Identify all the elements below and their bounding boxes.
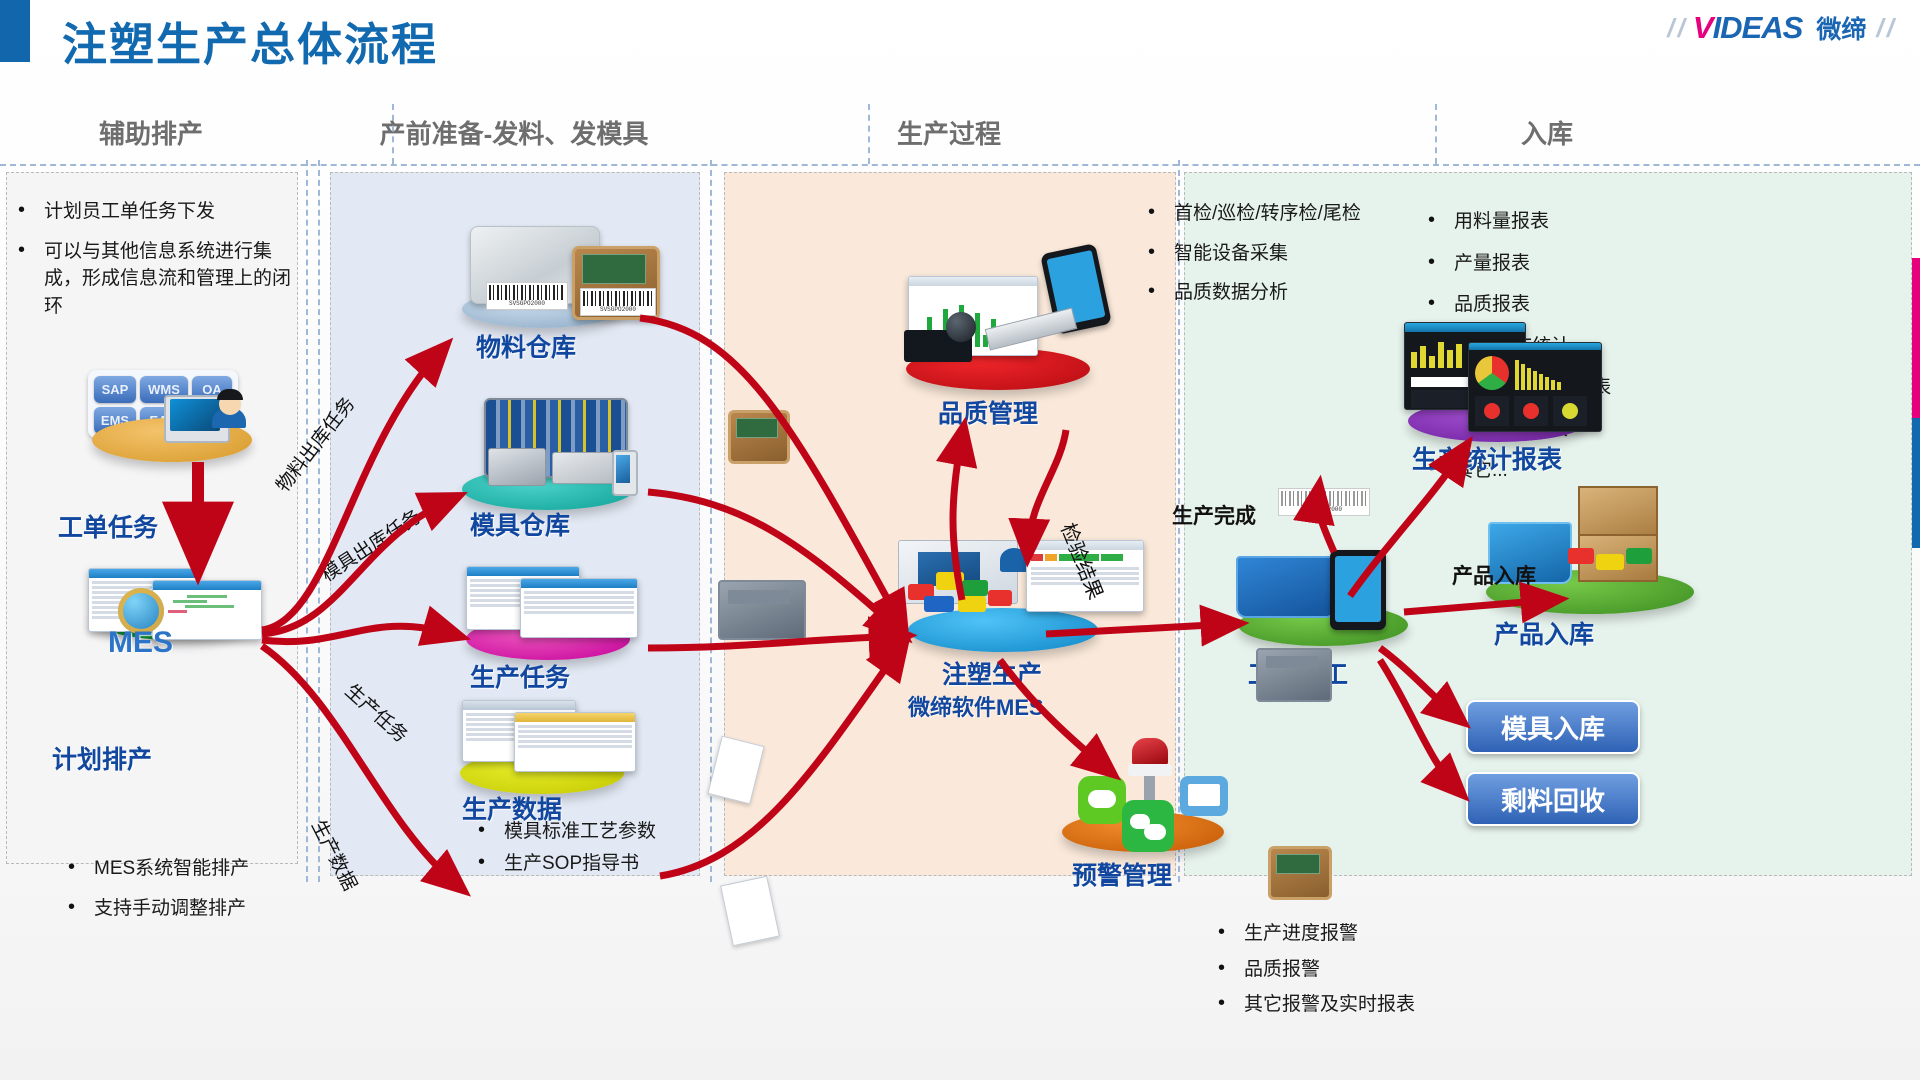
logo-slashes-right: / / <box>1876 13 1892 44</box>
right-edge-pink-block <box>1911 258 1920 418</box>
node-label-injection-production: 注塑生产 <box>942 655 1042 691</box>
node-label-plan-scheduling: 计划排产 <box>52 740 152 776</box>
node-label-mold-warehouse: 模具仓库 <box>470 506 570 542</box>
node-label-material-warehouse: 物料仓库 <box>476 328 576 364</box>
list-item: 智能设备采集 <box>1140 240 1460 268</box>
node-label-work-order-task: 工单任务 <box>58 508 158 544</box>
column-divider-top-1 <box>392 104 394 164</box>
dashboard-window-front <box>1468 342 1602 432</box>
column-header-1: 产前准备-发料、发模具 <box>330 108 698 156</box>
page-title: 注塑生产总体流程 <box>62 8 438 73</box>
logo-v-glyph: V <box>1693 10 1713 45</box>
list-item: 可以与其他信息系统进行集成，形成信息流和管理上的闭环 <box>10 238 300 321</box>
mes-badge-label: MES <box>108 626 173 660</box>
list-item: 产量报表 <box>1420 250 1840 278</box>
column-divider-1b <box>318 160 320 882</box>
work-order-barcode: SVSGPO2000 <box>1278 488 1370 516</box>
column-divider-top-2 <box>868 104 870 164</box>
list-item: MES系统智能排产 <box>60 855 310 883</box>
col3-quality-bullets: 首检/巡检/转序检/尾检 智能设备采集 品质数据分析 <box>1140 200 1460 319</box>
column-header-3: 入库 <box>1184 108 1910 156</box>
list-item: 生产进度报警 <box>1210 920 1530 948</box>
column-divider-top-3 <box>1435 104 1437 164</box>
column-header-2: 生产过程 <box>724 108 1174 156</box>
list-item: 品质数据分析 <box>1140 279 1460 307</box>
node-label-product-warehousing: 产品入库 <box>1494 615 1594 651</box>
logo-ideas-text: IDEAS <box>1713 10 1803 45</box>
list-item: 生产SOP指导书 <box>470 850 730 878</box>
node-label-alarm-management: 预警管理 <box>1072 856 1172 892</box>
node-label-statistics-report: 生产统计报表 <box>1412 440 1562 476</box>
list-item: 模具标准工艺参数 <box>470 818 730 846</box>
system-tile-sap: SAP <box>94 376 136 403</box>
column-header-0: 辅助排产 <box>6 108 296 156</box>
material-barcode-1: SVSGPO2000 <box>486 282 568 310</box>
title-accent-bar <box>0 0 30 62</box>
list-item: 首检/巡检/转序检/尾检 <box>1140 200 1460 228</box>
list-item: 品质报表 <box>1420 291 1840 319</box>
col1-top-bullets: 计划员工单任务下发 可以与其他信息系统进行集成，形成信息流和管理上的闭环 <box>10 198 300 332</box>
col1-bottom-bullets: MES系统智能排产 支持手动调整排产 <box>60 855 310 934</box>
list-item: 品质报警 <box>1210 956 1530 984</box>
header-separator-line <box>0 164 1920 166</box>
col2-production-data-bullets: 模具标准工艺参数 生产SOP指导书 <box>470 818 730 881</box>
task-window-right <box>520 578 638 638</box>
logo-wordmark: VIDEAS <box>1693 10 1802 46</box>
list-item: 支持手动调整排产 <box>60 895 310 923</box>
barcode-text: SVSGPO2000 <box>489 300 565 307</box>
data-window-right <box>514 712 636 772</box>
node-label-injection-production-sub: 微缔软件MES <box>908 690 1044 722</box>
node-label-quality-management: 品质管理 <box>938 394 1038 430</box>
brand-logo: / / VIDEAS 微缔 / / <box>1667 10 1892 46</box>
list-item: 用料量报表 <box>1420 208 1840 236</box>
col3-alarm-bullets: 生产进度报警 品质报警 其它报警及实时报表 <box>1210 920 1530 1027</box>
logo-chinese-name: 微缔 <box>1816 10 1866 46</box>
logo-slashes-left: / / <box>1667 13 1683 44</box>
flow-label-production-complete: 生产完成 <box>1172 500 1256 530</box>
pill-mold-warehousing[interactable]: 模具入库 <box>1466 700 1640 754</box>
column-divider-1 <box>306 160 308 882</box>
barcode-text: SVSGPO2000 <box>583 306 653 313</box>
pill-scrap-recycle[interactable]: 剩料回收 <box>1466 772 1640 826</box>
barcode-text: SVSGPO2000 <box>1281 506 1367 513</box>
slide-canvas: 注塑生产总体流程 / / VIDEAS 微缔 / / 辅助排产 产前准备-发料、… <box>0 0 1920 1080</box>
material-barcode-2: SVSGPO2000 <box>580 288 656 316</box>
flow-label-product-warehousing: 产品入库 <box>1452 560 1536 590</box>
node-label-production-task: 生产任务 <box>470 658 570 694</box>
list-item: 其它报警及实时报表 <box>1210 991 1444 1019</box>
right-edge-blue-block <box>1911 418 1920 548</box>
list-item: 计划员工单任务下发 <box>10 198 300 226</box>
